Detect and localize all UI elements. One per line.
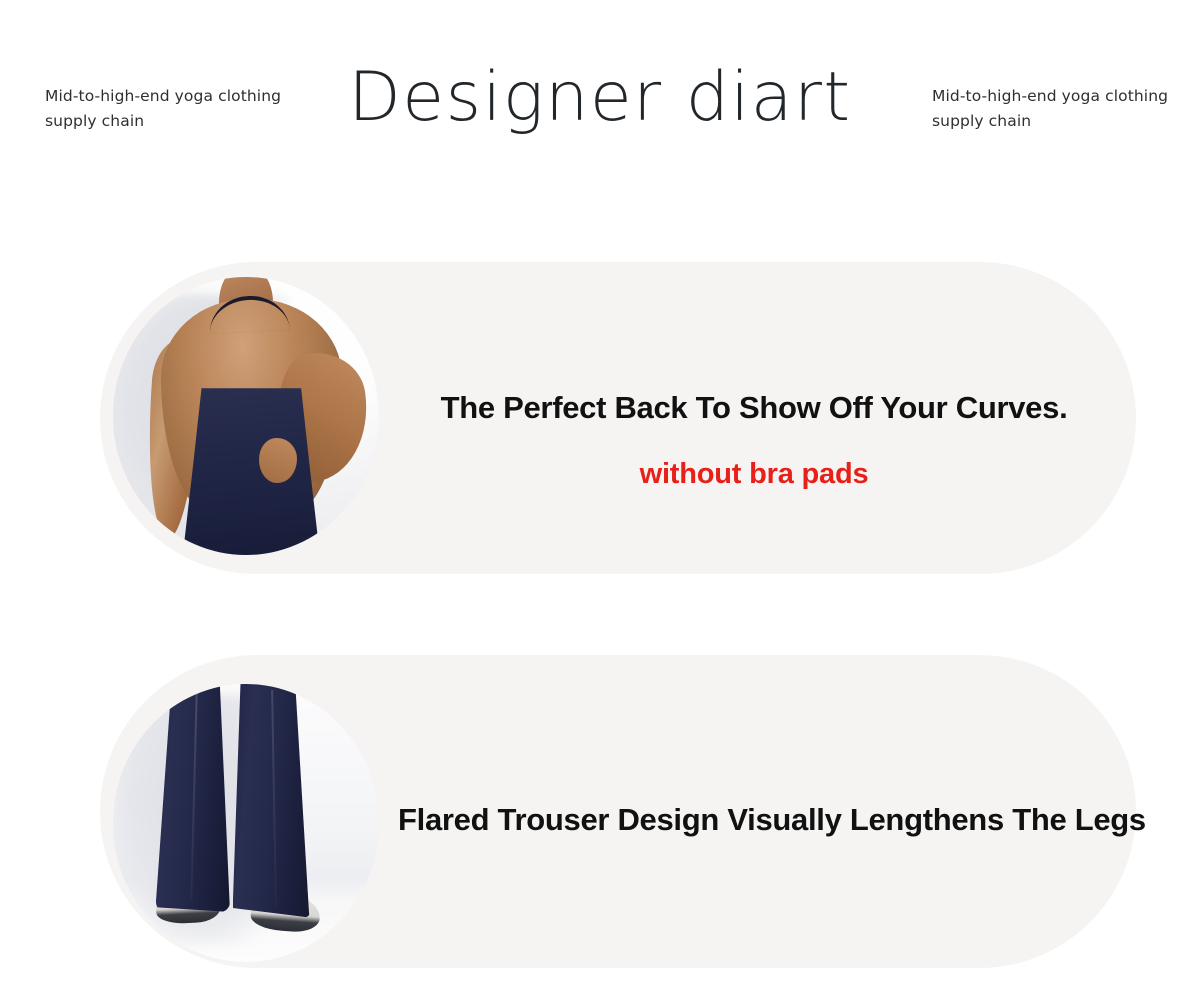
promo-page: Mid-to-high-end yoga clothing supply cha… bbox=[0, 0, 1200, 995]
feature-photo-back-view bbox=[113, 277, 379, 555]
feature-headline-1: The Perfect Back To Show Off Your Curves… bbox=[398, 388, 1110, 428]
feature-headline-2: Flared Trouser Design Visually Lengthens… bbox=[398, 800, 1126, 840]
feature-subline-1: without bra pads bbox=[398, 456, 1110, 492]
navy-halter-top bbox=[182, 388, 320, 555]
feature-text-2: Flared Trouser Design Visually Lengthens… bbox=[398, 800, 1126, 840]
feature-text-1: The Perfect Back To Show Off Your Curves… bbox=[398, 388, 1110, 492]
tagline-right: Mid-to-high-end yoga clothing supply cha… bbox=[932, 84, 1200, 134]
model-hand bbox=[259, 438, 296, 482]
feature-photo-trousers bbox=[113, 684, 379, 962]
